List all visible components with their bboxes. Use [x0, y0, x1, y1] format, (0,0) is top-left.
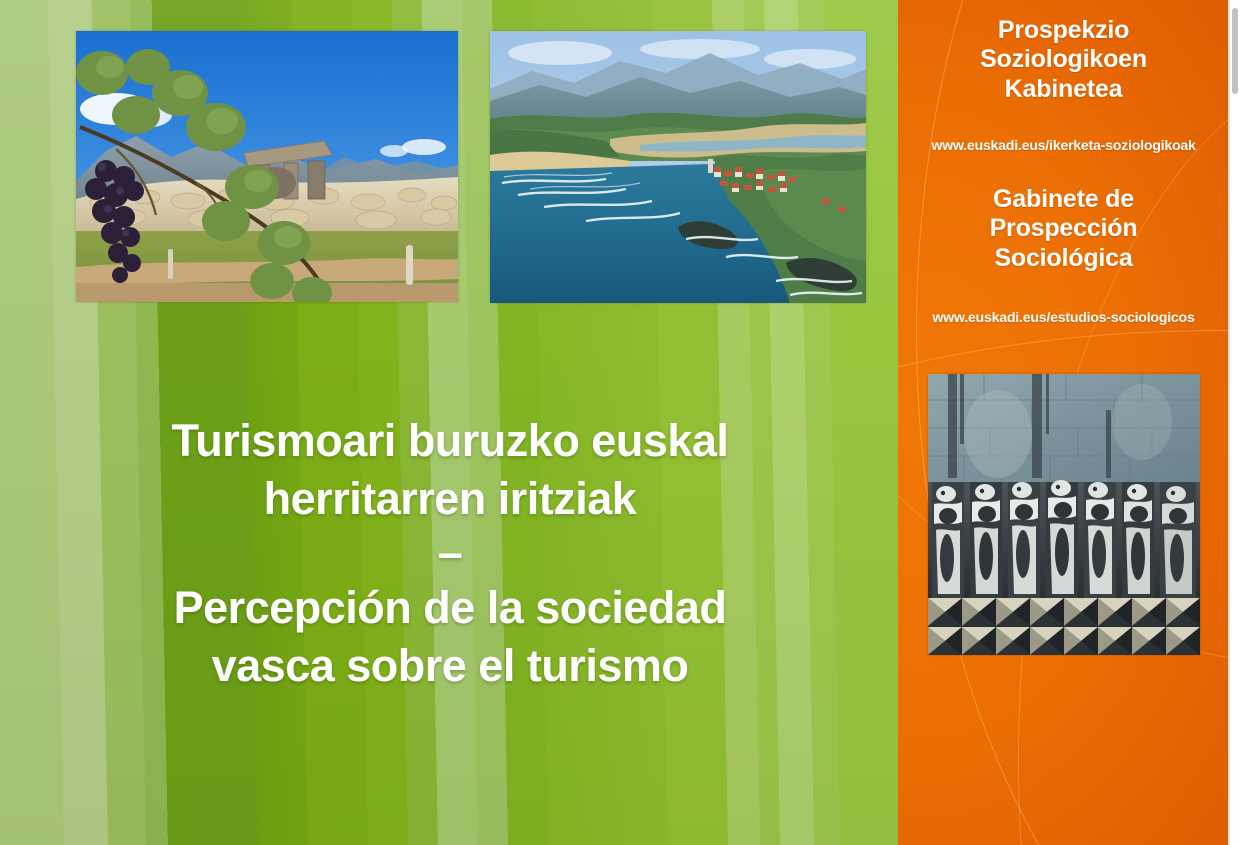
org-name-es-line-1: Gabinete de: [906, 185, 1221, 214]
scrollbar-thumb[interactable]: [1232, 8, 1238, 94]
slide-title: Turismoari buruzko euskal herritarren ir…: [40, 412, 860, 694]
org-name-es-line-3: Sociológica: [906, 244, 1221, 273]
org-name-eu-line-3: Kabinetea: [906, 75, 1221, 104]
title-line-es-1: Percepción de la sociedad: [40, 579, 860, 637]
title-line-es-2: vasca sobre el turismo: [40, 637, 860, 695]
apostles-frieze-photo: [928, 374, 1200, 655]
dolmen-vineyard-photo: [76, 31, 458, 302]
organization-url-spanish[interactable]: www.euskadi.eus/estudios-sociologicos: [898, 310, 1229, 326]
coastline-estuary-photo: [490, 31, 866, 303]
org-name-eu-line-2: Soziologikoen: [906, 45, 1221, 74]
organization-name-spanish: Gabinete de Prospección Sociológica: [898, 185, 1229, 273]
title-line-eu-1: Turismoari buruzko euskal: [40, 412, 860, 470]
scrollbar-track[interactable]: [1229, 0, 1239, 845]
green-background-panel: Turismoari buruzko euskal herritarren ir…: [0, 0, 898, 845]
title-line-eu-2: herritarren iritziak: [40, 470, 860, 528]
title-separator: –: [40, 527, 860, 579]
org-name-es-line-2: Prospección: [906, 214, 1221, 243]
presentation-slide: Turismoari buruzko euskal herritarren ir…: [0, 0, 1239, 845]
org-name-eu-line-1: Prospekzio: [906, 16, 1221, 45]
organization-name-basque: Prospekzio Soziologikoen Kabinetea: [898, 16, 1229, 104]
organization-url-basque[interactable]: www.euskadi.eus/ikerketa-soziologikoak: [898, 138, 1229, 154]
